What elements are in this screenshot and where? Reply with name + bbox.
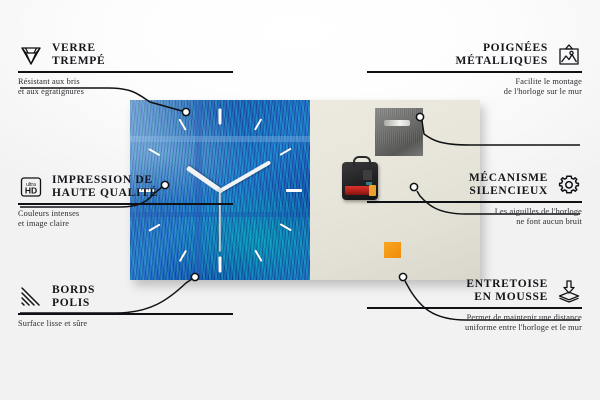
callout-entretoise-en-mousse: ENTRETOISE EN MOUSSE Permet de maintenir… [367, 278, 582, 334]
callout-description: Couleurs intenses et image claire [18, 209, 233, 230]
callout-description: Facilite le montage de l'horloge sur le … [367, 77, 582, 98]
picture-frame-hanger-icon [556, 43, 582, 67]
ultra-hd-icon-bottom-label: HD [25, 186, 37, 196]
callout-poignees-metalliques: POIGNÉES MÉTALLIQUES Facilite le montage… [367, 42, 582, 98]
arrow-down-pad-icon [556, 279, 582, 303]
callout-divider [18, 313, 233, 315]
gear-icon [556, 173, 582, 197]
callout-header: MÉCANISME SILENCIEUX [367, 172, 582, 198]
callout-header: VERRE TREMPÉ [18, 42, 233, 68]
metal-hanger-plate [375, 108, 423, 156]
callout-title: ENTRETOISE EN MOUSSE [466, 278, 548, 304]
clock-tick [219, 108, 222, 124]
infographic-canvas: VERRE TREMPÉ Résistant aux bris et aux é… [0, 0, 600, 400]
callout-description: Surface lisse et sûre [18, 319, 233, 330]
callout-title: MÉCANISME SILENCIEUX [469, 172, 548, 198]
callout-bords-polis: BORDS POLIS Surface lisse et sûre [18, 284, 233, 329]
callout-title: VERRE TREMPÉ [52, 42, 105, 68]
clock-tick [286, 189, 302, 192]
ultra-hd-icon: ultra HD [18, 175, 44, 199]
diagonal-lines-icon [18, 285, 44, 309]
callout-description: Les aiguilles de l'horloge ne font aucun… [367, 207, 582, 228]
callout-title: POIGNÉES MÉTALLIQUES [456, 42, 548, 68]
clock-tick [219, 256, 222, 272]
callout-header: ultra HD IMPRESSION DE HAUTE QUALITÉ [18, 174, 233, 200]
foam-spacer [384, 242, 401, 258]
callout-mecanisme-silencieux: MÉCANISME SILENCIEUX Les aiguilles de l'… [367, 172, 582, 228]
callout-divider [367, 307, 582, 309]
callout-title: IMPRESSION DE HAUTE QUALITÉ [52, 174, 158, 200]
callout-divider [18, 71, 233, 73]
callout-header: ENTRETOISE EN MOUSSE [367, 278, 582, 304]
callout-title: BORDS POLIS [52, 284, 95, 310]
callout-divider [367, 71, 582, 73]
diamond-icon [18, 43, 44, 67]
callout-impression-haute-qualite: ultra HD IMPRESSION DE HAUTE QUALITÉ Cou… [18, 174, 233, 230]
callout-header: BORDS POLIS [18, 284, 233, 310]
callout-header: POIGNÉES MÉTALLIQUES [367, 42, 582, 68]
hanger-slot [384, 120, 410, 126]
callout-description: Permet de maintenir une distance uniform… [367, 313, 582, 334]
callout-description: Résistant aux bris et aux égratignures [18, 77, 233, 98]
callout-divider [367, 201, 582, 203]
mechanism-hanging-loop [353, 156, 371, 167]
callout-divider [18, 203, 233, 205]
callout-verre-trempe: VERRE TREMPÉ Résistant aux bris et aux é… [18, 42, 233, 98]
